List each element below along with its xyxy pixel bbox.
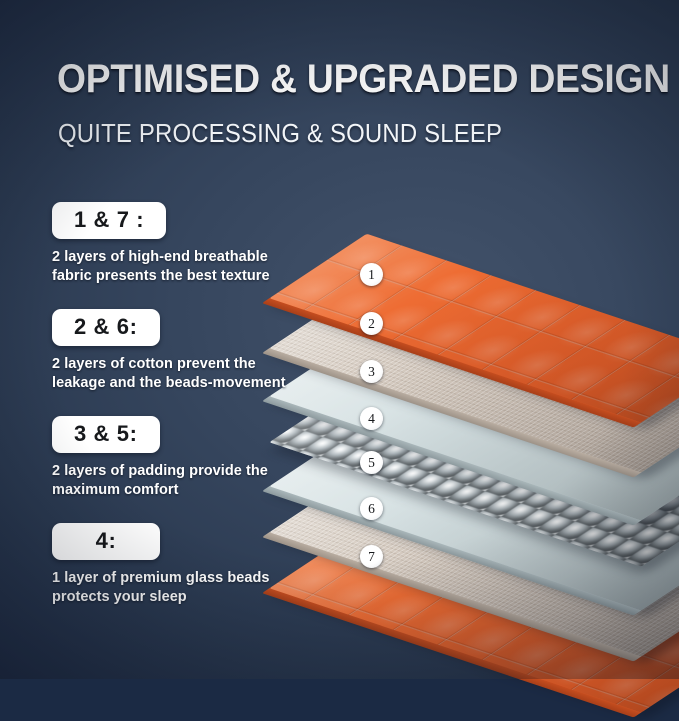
background-vignette	[0, 0, 679, 679]
